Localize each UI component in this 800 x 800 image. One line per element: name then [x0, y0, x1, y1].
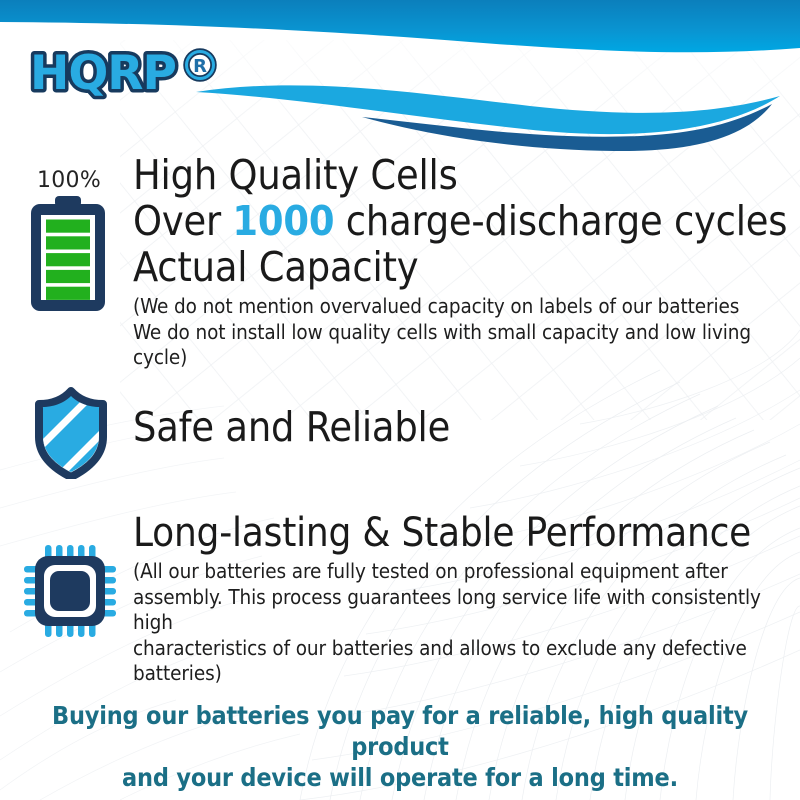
feature-block-quality: High Quality Cells Over 1000 charge-disc… — [133, 152, 793, 371]
registered-trademark-icon: R — [187, 52, 214, 79]
feature-body-1-line-1: (We do not mention overvalued capacity o… — [133, 294, 739, 318]
feature-body-1: (We do not mention overvalued capacity o… — [133, 294, 793, 371]
feature-block-performance: Long-lasting & Stable Performance (All o… — [133, 510, 795, 687]
cpu-chip-icon — [22, 543, 118, 639]
feature-heading-1b: Over 1000 charge-discharge cycles — [133, 198, 793, 244]
tagline-line-2: and your device will operate for a long … — [0, 762, 800, 793]
feature-block-safety: Safe and Reliable — [133, 404, 793, 450]
chip-core — [50, 571, 90, 611]
banner-mid-wave — [196, 85, 780, 134]
feature-body-3-line-3: characteristics of our batteries and all… — [133, 636, 747, 660]
heading-prefix: Over — [133, 197, 232, 245]
closing-tagline: Buying our batteries you pay for a relia… — [0, 700, 800, 793]
feature-body-3-line-2: assembly. This process guarantees long s… — [133, 585, 761, 635]
svg-text:R: R — [193, 56, 207, 77]
svg-text:HQRP: HQRP — [30, 46, 176, 101]
hqrp-logo: HQRP HQRP R — [28, 44, 228, 104]
feature-body-1-line-2: We do not install low quality cells with… — [133, 320, 751, 370]
heading-highlight-1000: 1000 — [232, 197, 334, 245]
battery-100-icon — [29, 196, 107, 311]
feature-heading-1c: Actual Capacity — [133, 244, 793, 290]
battery-percent-label: 100% — [26, 168, 112, 193]
shield-icon — [30, 387, 112, 479]
feature-heading-1a: High Quality Cells — [133, 152, 793, 198]
feature-heading-2: Safe and Reliable — [133, 404, 793, 450]
feature-body-3: (All our batteries are fully tested on p… — [133, 559, 788, 687]
feature-body-3-line-4: batteries) — [133, 661, 222, 685]
feature-body-3-line-1: (All our batteries are fully tested on p… — [133, 559, 728, 583]
feature-heading-3: Long-lasting & Stable Performance — [133, 510, 795, 556]
tagline-line-1: Buying our batteries you pay for a relia… — [0, 700, 800, 762]
heading-suffix: charge-discharge cycles — [334, 197, 787, 245]
infographic-page: HQRP HQRP R 100% High Quality Cells Over… — [0, 0, 800, 800]
battery-segments — [46, 220, 90, 300]
